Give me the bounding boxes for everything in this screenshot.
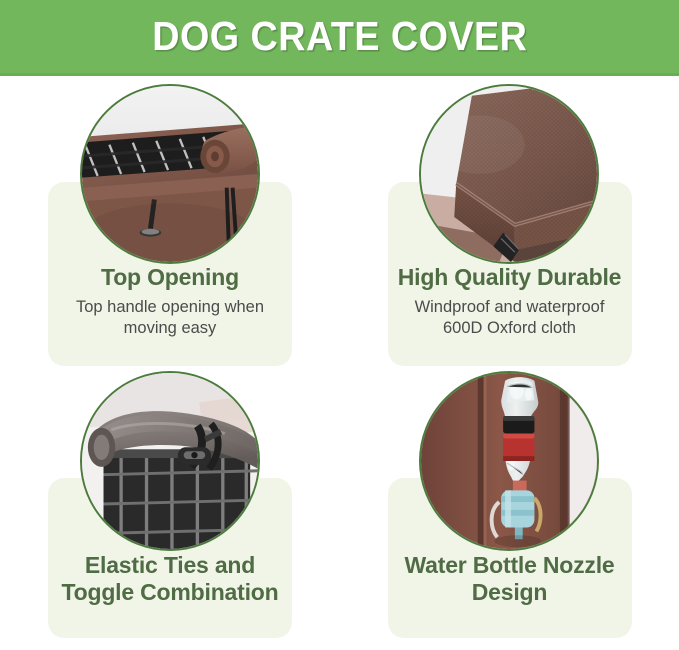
top-opening-photo	[80, 84, 260, 264]
feature-title: High Quality Durable	[394, 264, 626, 291]
infographic-page: DOG CRATE COVER Top Opening Top handle o…	[0, 0, 679, 650]
feature-cell: Water Bottle Nozzle Design	[340, 363, 679, 650]
feature-cell: High Quality Durable Windproof and water…	[340, 76, 679, 363]
page-title: DOG CRATE COVER	[152, 13, 527, 60]
feature-cell: Top Opening Top handle opening when movi…	[0, 76, 340, 363]
water-bottle-nozzle-photo	[419, 371, 599, 551]
feature-card-text: Top Opening Top handle opening when movi…	[48, 264, 292, 340]
feature-grid: Top Opening Top handle opening when movi…	[0, 76, 679, 650]
oxford-cloth-corner-photo	[419, 84, 599, 264]
feature-description: Windproof and waterproof 600D Oxford clo…	[394, 297, 626, 340]
feature-title: Water Bottle Nozzle Design	[394, 552, 626, 606]
feature-title: Top Opening	[54, 264, 286, 291]
feature-title: Elastic Ties and Toggle Combination	[54, 552, 286, 606]
feature-card-text: High Quality Durable Windproof and water…	[388, 264, 632, 340]
elastic-toggle-photo	[80, 371, 260, 551]
feature-cell: Elastic Ties and Toggle Combination	[0, 363, 340, 650]
feature-description: Top handle opening when moving easy	[54, 297, 286, 340]
feature-card-text: Elastic Ties and Toggle Combination	[48, 552, 292, 612]
feature-card-text: Water Bottle Nozzle Design	[388, 552, 632, 612]
header-banner: DOG CRATE COVER	[0, 0, 679, 76]
